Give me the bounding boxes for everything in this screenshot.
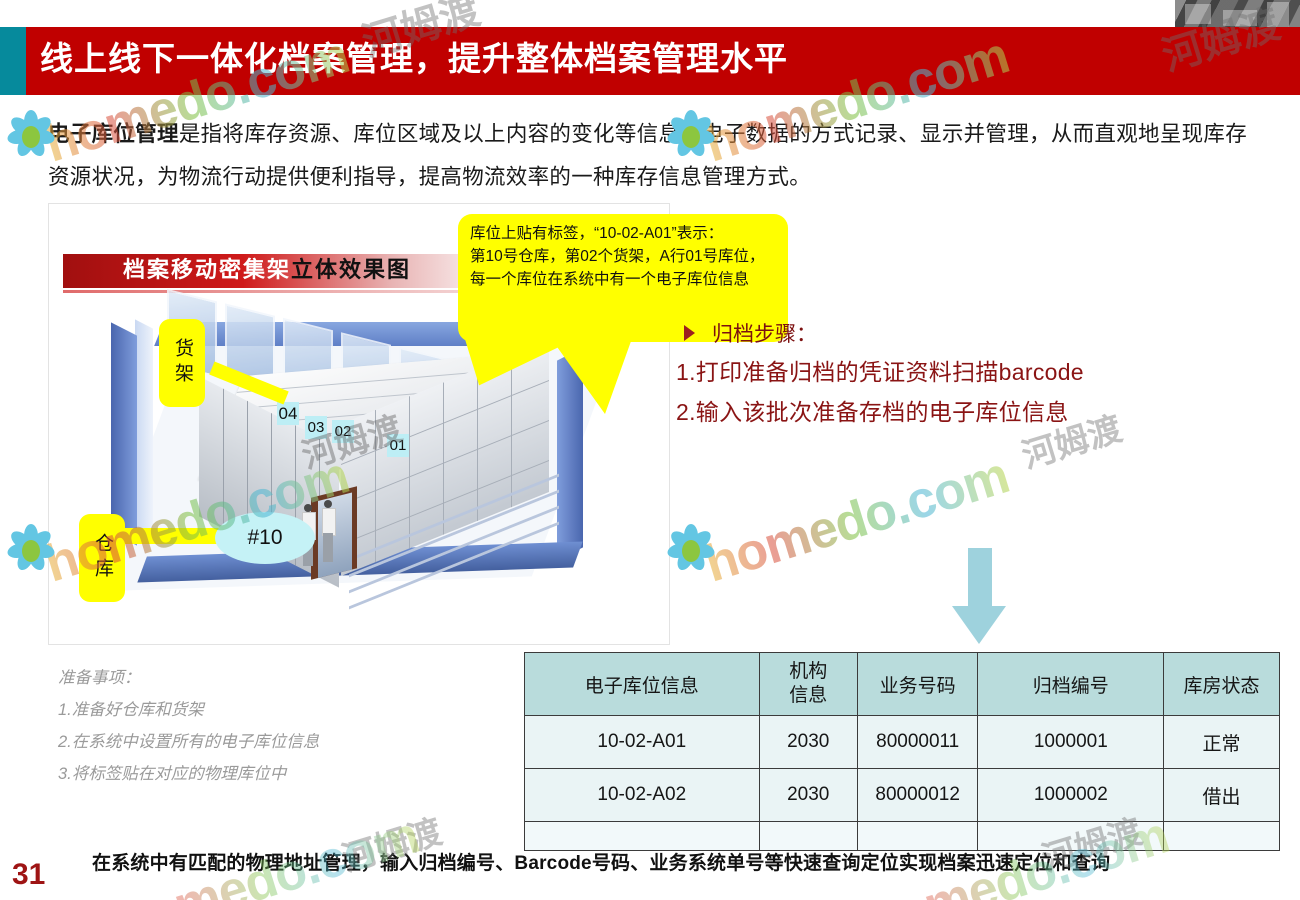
cell-status: 借出 bbox=[1164, 769, 1280, 822]
room-left-inner-wall bbox=[135, 319, 153, 543]
cell-org: 2030 bbox=[759, 769, 857, 822]
table-row: 10-02-A01 2030 80000011 1000001 正常 bbox=[525, 716, 1280, 769]
prep-item-3: 3.将标签贴在对应的物理库位中 bbox=[58, 758, 488, 790]
location-table-wrap: 电子库位信息 机构信息 业务号码 归档编号 库房状态 10-02-A01 203… bbox=[524, 652, 1280, 851]
illustration-banner-white-text: 档案移动密集架 bbox=[123, 257, 291, 282]
shelf-number-02: 02 bbox=[332, 420, 354, 443]
table-header-row: 电子库位信息 机构信息 业务号码 归档编号 库房状态 bbox=[525, 653, 1280, 716]
table-header-business-no: 业务号码 bbox=[857, 653, 978, 716]
room-left-wall bbox=[111, 322, 137, 545]
table-header-archive-no: 归档编号 bbox=[978, 653, 1164, 716]
table-row-empty bbox=[525, 822, 1280, 851]
prep-heading: 准备事项： bbox=[58, 662, 488, 694]
steps-heading-text: 归档步骤： bbox=[712, 323, 817, 346]
illustration-banner-underline bbox=[63, 290, 467, 293]
callout-leader-right bbox=[545, 330, 635, 414]
table-header-org-l2: 信息 bbox=[760, 684, 857, 708]
table-header-location: 电子库位信息 bbox=[525, 653, 760, 716]
intro-body: 是指将库存资源、库位区域及以上内容的变化等信息以电子数据的方式记录、显示并管理，… bbox=[48, 122, 1247, 189]
intro-paragraph: 电子库位管理是指将库存资源、库位区域及以上内容的变化等信息以电子数据的方式记录、… bbox=[48, 113, 1263, 199]
down-arrow-icon bbox=[952, 548, 1006, 644]
archiving-steps: 归档步骤： 1.打印准备归档的凭证资料扫描barcode 2.输入该批次准备存档… bbox=[676, 318, 1276, 432]
table-header-status: 库房状态 bbox=[1164, 653, 1280, 716]
cell-empty bbox=[1164, 822, 1280, 851]
cell-location: 10-02-A02 bbox=[525, 769, 760, 822]
warehouse-label: 仓库 bbox=[79, 514, 125, 602]
warehouse-label-leader bbox=[111, 528, 231, 544]
cell-empty bbox=[525, 822, 760, 851]
callout-line-2: 第10号仓库，第02个货架，A行01号库位，每一个库位在系统中有一个电子库位信息 bbox=[470, 245, 776, 291]
prep-item-2: 2.在系统中设置所有的电子库位信息 bbox=[58, 726, 488, 758]
title-accent-bar bbox=[0, 27, 26, 95]
table-header-org-l1: 机构 bbox=[760, 660, 857, 684]
preparation-notes: 准备事项： 1.准备好仓库和货架 2.在系统中设置所有的电子库位信息 3.将标签… bbox=[58, 662, 488, 790]
cell-archive-no: 1000001 bbox=[978, 716, 1164, 769]
cell-business-no: 80000012 bbox=[857, 769, 978, 822]
slide-title-bar: 线上线下一体化档案管理，提升整体档案管理水平 bbox=[0, 27, 1300, 95]
prep-item-1: 1.准备好仓库和货架 bbox=[58, 694, 488, 726]
page-title: 线上线下一体化档案管理，提升整体档案管理水平 bbox=[40, 27, 788, 95]
warehouse-label-text: 仓库 bbox=[91, 533, 113, 583]
shelf-number-04: 04 bbox=[277, 402, 299, 425]
electronic-location-table: 电子库位信息 机构信息 业务号码 归档编号 库房状态 10-02-A01 203… bbox=[524, 652, 1280, 851]
cell-business-no: 80000011 bbox=[857, 716, 978, 769]
chevron-right-icon bbox=[684, 325, 695, 341]
shelf-label-text: 货架 bbox=[171, 338, 193, 388]
intro-term: 电子库位管理 bbox=[48, 122, 179, 146]
illustration-banner-black-text: 立体效果图 bbox=[291, 257, 411, 282]
steps-heading: 归档步骤： bbox=[676, 318, 1276, 352]
cell-org: 2030 bbox=[759, 716, 857, 769]
shelf-label: 货架 bbox=[159, 319, 205, 407]
page-number: 31 bbox=[12, 858, 45, 892]
warehouse-id-oval: #10 bbox=[215, 512, 315, 564]
cell-empty bbox=[759, 822, 857, 851]
table-header-org: 机构信息 bbox=[759, 653, 857, 716]
shelf-number-03: 03 bbox=[305, 416, 327, 439]
callout-line-1: 库位上贴有标签，“10-02-A01”表示： bbox=[470, 222, 776, 245]
illustration-banner: 档案移动密集架立体效果图 bbox=[63, 254, 463, 288]
cell-status: 正常 bbox=[1164, 716, 1280, 769]
person-figure-right bbox=[321, 500, 335, 562]
cell-empty bbox=[978, 822, 1164, 851]
shelf-number-01: 01 bbox=[387, 434, 409, 457]
cell-location: 10-02-A01 bbox=[525, 716, 760, 769]
step-item-1: 1.打印准备归档的凭证资料扫描barcode bbox=[676, 352, 1276, 392]
watermark-flower-icon bbox=[664, 522, 718, 576]
cell-empty bbox=[857, 822, 978, 851]
step-item-2: 2.输入该批次准备存档的电子库位信息 bbox=[676, 392, 1276, 432]
cell-archive-no: 1000002 bbox=[978, 769, 1164, 822]
slide-footer-note: 在系统中有匹配的物理地址管理，输入归档编号、Barcode号码、业务系统单号等快… bbox=[92, 848, 1272, 875]
slide-root: 线上线下一体化档案管理，提升整体档案管理水平 电子库位管理是指将库存资源、库位区… bbox=[0, 0, 1300, 900]
table-row: 10-02-A02 2030 80000012 1000002 借出 bbox=[525, 769, 1280, 822]
